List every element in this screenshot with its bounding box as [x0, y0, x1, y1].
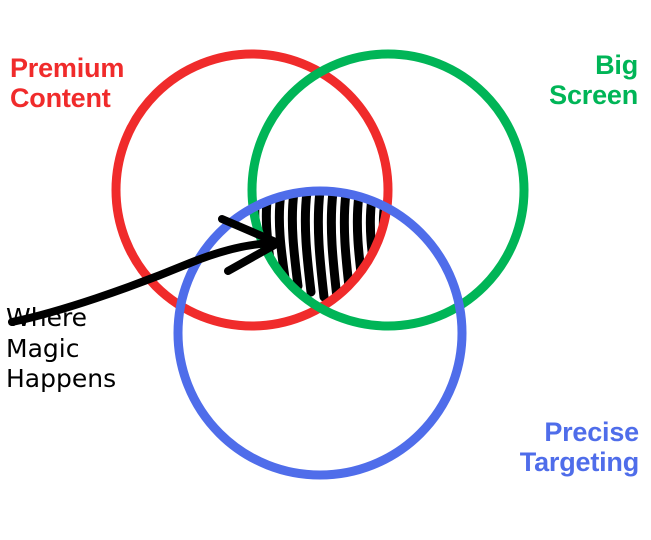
label-premium-content: Premium Content	[10, 53, 124, 113]
annotation-where-magic-happens: Where Magic Happens	[6, 303, 116, 395]
venn-diagram-canvas: Premium Content Big Screen Precise Targe…	[0, 0, 651, 540]
label-big-screen: Big Screen	[549, 50, 638, 110]
label-precise-targeting: Precise Targeting	[520, 417, 639, 477]
